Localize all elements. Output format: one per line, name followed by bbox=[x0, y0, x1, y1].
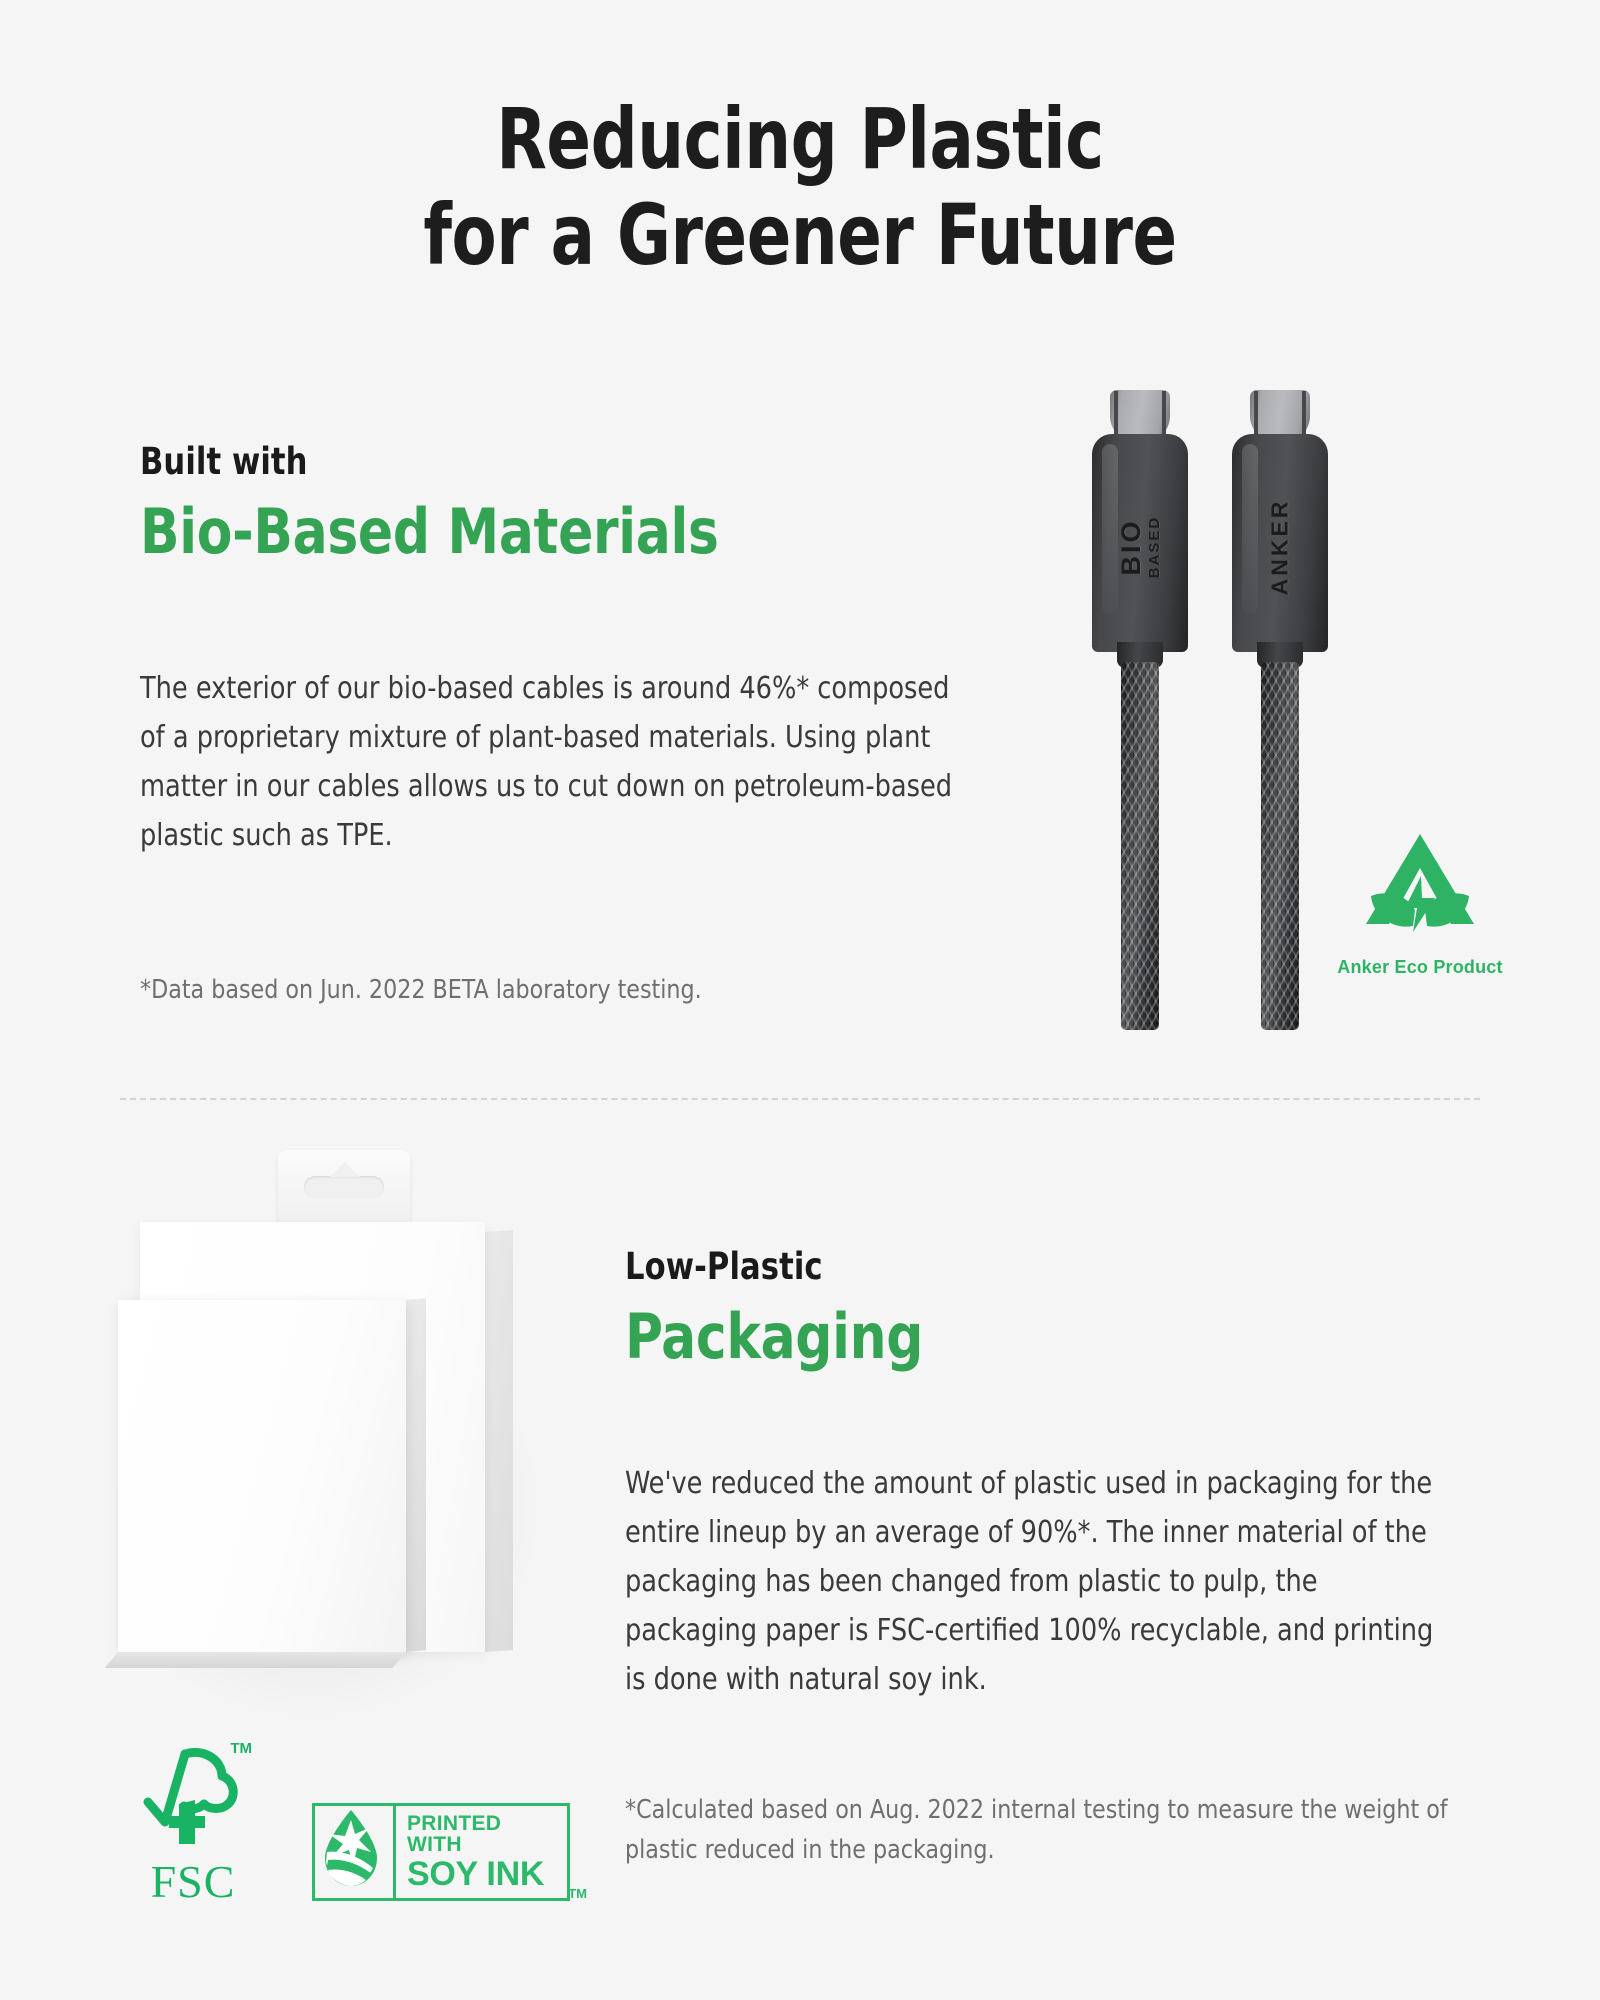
bio-based-text-block: Built with Bio-Based Materials The exter… bbox=[140, 440, 1000, 564]
soy-icon-cell bbox=[315, 1806, 396, 1898]
bio-body-text: The exterior of our bio-based cables is … bbox=[140, 665, 976, 861]
fsc-logo: TM FSC bbox=[138, 1742, 248, 1905]
eco-badge-caption: Anker Eco Product bbox=[1330, 957, 1510, 978]
bio-footnote: *Data based on Jun. 2022 BETA laboratory… bbox=[140, 970, 995, 1010]
packaging-box-image bbox=[118, 1150, 588, 1730]
soy-ink-logo: PRINTED WITH SOY INK TM bbox=[312, 1803, 570, 1901]
box-bottom-edge bbox=[105, 1652, 406, 1668]
packaging-body-text: We've reduced the amount of plastic used… bbox=[625, 1460, 1452, 1704]
bio-eyebrow: Built with bbox=[140, 440, 931, 483]
hang-tab bbox=[278, 1150, 410, 1228]
soy-line-2: SOY INK bbox=[407, 1857, 558, 1893]
soy-droplet-icon bbox=[315, 1806, 387, 1892]
packaging-headline: Packaging bbox=[625, 1304, 1443, 1369]
fsc-wordmark: FSC bbox=[138, 1859, 248, 1905]
soy-trademark: TM bbox=[568, 1886, 587, 1901]
packaging-eyebrow: Low-Plastic bbox=[625, 1245, 1435, 1288]
cable-connector-anker: ANKER bbox=[1220, 390, 1340, 1030]
fsc-trademark: TM bbox=[230, 1740, 252, 1757]
bio-imprint-large: BIO bbox=[1117, 516, 1147, 579]
fsc-tree-checkmark-icon bbox=[138, 1742, 248, 1852]
anker-imprint: ANKER bbox=[1267, 499, 1294, 596]
section-divider bbox=[120, 1098, 1480, 1100]
anker-eco-product-badge: Anker Eco Product bbox=[1330, 828, 1510, 978]
connector-housing: BIO BASED bbox=[1092, 434, 1188, 652]
box-front-edge bbox=[406, 1298, 426, 1652]
connector-housing: ANKER bbox=[1232, 434, 1328, 652]
cable-connector-bio: BIO BASED bbox=[1080, 390, 1200, 1030]
bio-headline: Bio-Based Materials bbox=[140, 499, 940, 564]
anker-eco-leaf-bolt-icon bbox=[1355, 828, 1485, 948]
bio-based-imprint: BIO BASED bbox=[1117, 516, 1163, 579]
box-front-panel bbox=[118, 1300, 406, 1652]
certification-logos: TM FSC PRINTED WITH SOY INK TM bbox=[138, 1742, 570, 1905]
braided-cable-body bbox=[1261, 662, 1299, 1030]
soy-line-1: PRINTED WITH bbox=[407, 1813, 558, 1855]
hang-hole bbox=[304, 1176, 384, 1198]
page-title: Reducing Plastic for a Greener Future bbox=[104, 92, 1496, 284]
packaging-text-block: Low-Plastic Packaging We've reduced the … bbox=[625, 1245, 1505, 1369]
box-side-panel bbox=[485, 1230, 513, 1652]
bio-imprint-small: BASED bbox=[1146, 516, 1163, 579]
packaging-footnote: *Calculated based on Aug. 2022 internal … bbox=[625, 1790, 1480, 1871]
braided-cable-body bbox=[1121, 662, 1159, 1030]
soy-text-cell: PRINTED WITH SOY INK bbox=[396, 1806, 567, 1898]
